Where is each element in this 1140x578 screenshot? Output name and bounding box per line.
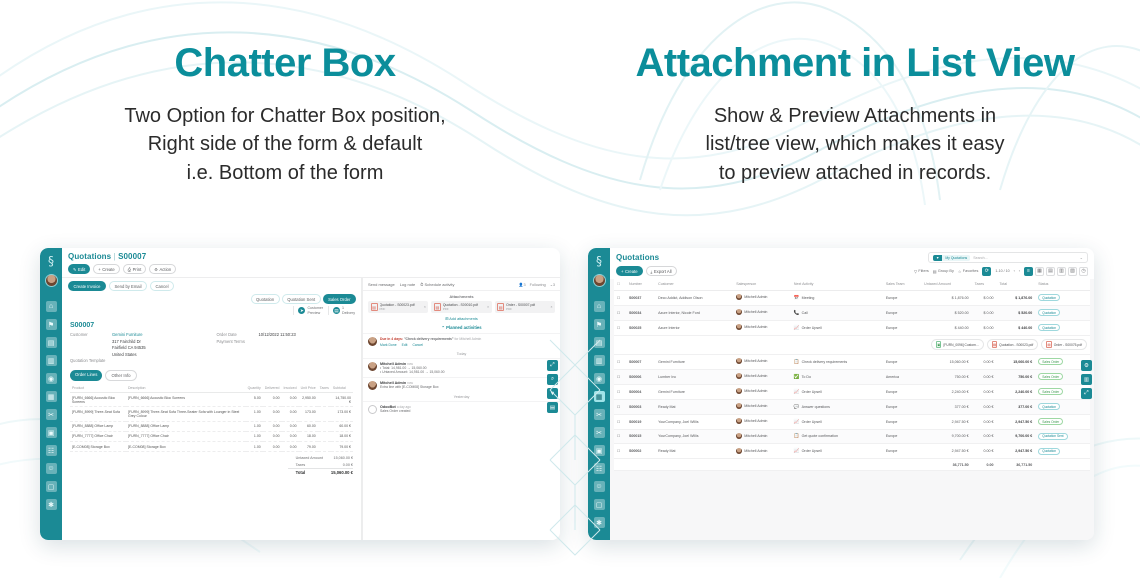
chatter-panel: Send message Log note ⏱ Schedule activit…	[362, 278, 560, 540]
sidebar-avatar[interactable]	[593, 274, 606, 287]
cell-activity: 📈Order Upsell	[791, 414, 883, 429]
row-checkbox[interactable]: ☐	[614, 305, 626, 320]
right-headline: Attachment in List View	[570, 40, 1140, 86]
plus-icon: +	[621, 269, 623, 274]
avatar	[736, 448, 742, 454]
table-row[interactable]: ☐ S00037 Deco Addict, Addison Olson Mitc…	[614, 290, 1090, 305]
address-line-3: United States	[112, 352, 137, 357]
cell-activity: 📈Order Upsell	[791, 320, 883, 335]
status-badge: Quotation Sent	[1038, 433, 1067, 440]
status-badge: Sales Order	[1038, 388, 1063, 395]
total-taxes-value: 0.00 €	[323, 461, 353, 468]
cell-unit-price: 173.00	[299, 407, 318, 421]
col-salesperson[interactable]: Salesperson	[733, 279, 791, 290]
col-taxes[interactable]: Taxes	[318, 384, 331, 393]
cell-taxes: $ 0.00	[972, 290, 997, 305]
attachment-chip[interactable]: ▤ Order - S00075.pdf	[1041, 339, 1087, 350]
table-row[interactable]: [FURN_8888] Office Lamp [FURN_8888] Offi…	[70, 421, 353, 431]
order-totals: Untaxed Amount 15,060.00 € Taxes 0.00 € …	[62, 455, 361, 480]
favorites-button[interactable]: ☆Favorites	[958, 269, 979, 274]
col-next-activity[interactable]: Next Activity	[791, 279, 883, 290]
export-all-button-label: Export All	[654, 269, 672, 274]
attachment-chip-list: ▤ Quotation - S00023.pdf PDF × ▤ Quotati…	[363, 301, 560, 313]
sidebar-avatar[interactable]	[45, 274, 58, 287]
list-view-mockup: § ⌂ ⚑ ▤ ▥ ◉ ▦ ✂ ✂ ▣ ☷ ☺ ▢ ✱ Quotations	[588, 248, 1094, 540]
cell-invoiced: 0.00	[282, 431, 299, 441]
edit-button[interactable]: ✎Edit	[68, 264, 90, 274]
table-row[interactable]: ☐ S00002 Ready Mat Mitchell Admin 📈Order…	[614, 444, 1090, 459]
cell-taxes	[318, 407, 331, 421]
cell-taxes	[318, 441, 331, 451]
cancel-activity-link[interactable]: Cancel	[412, 343, 423, 347]
export-all-button[interactable]: ⤓Export All	[646, 266, 677, 276]
cell-total: 2,947.50 €	[996, 444, 1035, 459]
cell-salesperson: Mitchell Admin	[733, 414, 791, 429]
cell-status: Quotation	[1035, 444, 1090, 459]
order-lines-wrapper: Product Description Quantity Delivered I…	[62, 381, 361, 452]
attachments-title: Attachments	[363, 291, 560, 301]
remove-attachment-icon[interactable]: ×	[551, 305, 553, 309]
day-separator-yesterday: Yesterday	[363, 393, 560, 401]
address-line-1: 317 Fairchild Dr	[112, 339, 141, 344]
table-row[interactable]: ☐ S00007 Gemini Furniture Mitchell Admin…	[614, 354, 1090, 369]
cell-customer: Ready Mat	[655, 399, 733, 414]
cell-untaxed: 377.00 €	[921, 399, 972, 414]
status-badge: Sales Order	[1038, 358, 1063, 365]
cell-taxes: 0.00 €	[972, 354, 997, 369]
create-button[interactable]: +Create	[93, 264, 120, 274]
create-button[interactable]: +Create	[616, 266, 643, 276]
chart-icon: 📈	[794, 325, 800, 331]
cell-invoiced: 0.00	[282, 407, 299, 421]
home-icon[interactable]: ⌂	[594, 301, 605, 312]
row-checkbox[interactable]: ☐	[614, 399, 626, 414]
customer-preview-line2: Preview	[307, 311, 323, 315]
person-icon[interactable]: ☺	[46, 463, 57, 474]
attachment-chip[interactable]: ▤ Order - S00007.pdf PDF ×	[495, 301, 555, 313]
cell-status: Quotation	[1035, 399, 1090, 414]
table-row[interactable]: ☐ S00004 Gemini Furniture Mitchell Admin…	[614, 384, 1090, 399]
connector-decoration	[540, 330, 610, 560]
tools-icon[interactable]: ✂	[46, 409, 57, 420]
cell-subtotal: 79.00 €	[331, 441, 353, 451]
row-checkbox[interactable]: ☐	[614, 354, 626, 369]
sidebar-icon-list[interactable]: ⌂ ⚑ ▤ ▥ ◉ ▦ ✂ ▣ ☷ ☺ ▢ ✱	[46, 301, 57, 510]
cell-status: Quotation	[1035, 320, 1090, 335]
left-subtext-line-2: Right side of the form & default	[0, 130, 570, 158]
field-customer: Customer Gemini Furniture	[70, 332, 207, 337]
quotations-table: ☐ Number Customer Salesperson Next Activ…	[614, 279, 1090, 471]
action-button-label: Action	[160, 267, 172, 272]
footer-grand-total: 36,771.50	[996, 459, 1035, 471]
cell-description: [FURN_7777] Office Chair	[126, 431, 246, 441]
tag-icon[interactable]: ⚑	[46, 319, 57, 330]
doc-icon[interactable]: ▣	[46, 427, 57, 438]
cell-number: S00034	[626, 305, 655, 320]
col-delivered[interactable]: Delivered	[263, 384, 282, 393]
cell-untaxed: 750.00 €	[921, 369, 972, 384]
pdf-icon: ▤	[992, 341, 998, 348]
cell-number: S00007	[626, 354, 655, 369]
cell-team: Europe	[883, 305, 921, 320]
table-row[interactable]: [FURN_6666] Acoustic Bloc Screens [FURN_…	[70, 393, 353, 407]
form-fields: Customer Gemini Furniture 317 Fairchild …	[70, 332, 353, 365]
pivot-icon[interactable]: ▥	[1057, 267, 1066, 276]
cell-description: [E-COM08] Storage Box	[126, 441, 246, 451]
cell-quantity: 5.00	[246, 393, 263, 407]
pdf-icon: ▤	[1046, 341, 1052, 348]
col-subtotal[interactable]: Subtotal	[331, 384, 353, 393]
attachment-chip[interactable]: ▣ [FURN_0096] Custom...	[931, 339, 984, 350]
clipboard-icon: 📋	[794, 359, 800, 365]
left-subtext-line-3: i.e. Bottom of the form	[0, 159, 570, 187]
cell-team: Europe	[883, 354, 921, 369]
cell-delivered: 0.00	[263, 431, 282, 441]
cell-description: [FURN_8999] Three-Seat Sofa Three-Seater…	[126, 407, 246, 421]
message-line: Extra line with [E-COM08] Storage Box	[380, 385, 439, 389]
table-row[interactable]: ☐ S00034 Azure Interior, Nicole Ford Mit…	[614, 305, 1090, 320]
attachment-preview-row: ▣ [FURN_0096] Custom... ▤ Quotation - S0…	[614, 335, 1090, 354]
cell-total: 15,060.00 €	[996, 354, 1035, 369]
total-grand: Total 15,060.00 €	[288, 468, 353, 476]
book-icon[interactable]: ▥	[46, 355, 57, 366]
message-item: Mitchell Admin now Extra line with [E-CO…	[363, 377, 560, 393]
list-toolbar: +Create ⤓Export All ▽Filters ▤Group By ☆…	[616, 266, 1088, 279]
cell-salesperson: Mitchell Admin	[733, 290, 791, 305]
cell-taxes: 0.00 €	[972, 444, 997, 459]
form-view-body: Quotations | S00007 ✎Edit +Create ⎙Print…	[62, 248, 560, 540]
cell-total: $ 440.00	[996, 320, 1035, 335]
cell-salesperson: Mitchell Admin	[733, 305, 791, 320]
cell-number: S00004	[626, 384, 655, 399]
table-row[interactable]: ☐ S00015 YourCompany, Joel Willis Mitche…	[614, 429, 1090, 444]
form-control-panel: Quotations | S00007 ✎Edit +Create ⎙Print…	[62, 248, 560, 278]
field-address-line2: Fairfield CA 94535	[70, 345, 207, 350]
list-header-row: Quotations ▼ My Quotations Search... ⌄	[616, 252, 1088, 263]
table-row[interactable]: [E-COM08] Storage Box [E-COM08] Storage …	[70, 441, 353, 451]
question-icon: 💬	[794, 404, 800, 410]
cell-delivered: 0.00	[263, 441, 282, 451]
field-address-line3: United States	[70, 352, 207, 357]
cell-number: S00006	[626, 369, 655, 384]
delivery-button[interactable]: ▤ 1 Delivery	[328, 306, 355, 315]
cell-status: Sales Order	[1035, 414, 1090, 429]
cell-total: 2,947.50 €	[996, 414, 1035, 429]
cell-customer: Gemini Furniture	[655, 384, 733, 399]
breadcrumb-record: S00007	[118, 252, 146, 261]
table-row[interactable]: ☐ S00006 Lumber Inc Mitchell Admin ✅To D…	[614, 369, 1090, 384]
right-subtext: Show & Preview Attachments in list/tree …	[570, 102, 1140, 187]
cell-untaxed: $ 440.00	[921, 320, 972, 335]
cell-salesperson: Mitchell Admin	[733, 429, 791, 444]
image-icon: ▣	[936, 341, 942, 348]
box-icon[interactable]: ▢	[46, 481, 57, 492]
col-customer[interactable]: Customer	[655, 279, 733, 290]
cell-activity: 📞Call	[791, 305, 883, 320]
col-unit-price[interactable]: Unit Price	[299, 384, 318, 393]
pager-prev-icon[interactable]: ‹	[1014, 269, 1015, 273]
cell-invoiced: 0.00	[282, 441, 299, 451]
cell-customer: Lumber Inc	[655, 369, 733, 384]
activity-icon[interactable]: ◷	[1079, 267, 1088, 276]
row-checkbox[interactable]: ☐	[614, 384, 626, 399]
pager-label: 1-10 / 10	[995, 269, 1009, 273]
send-by-email-button[interactable]: Send by Email	[109, 281, 147, 291]
edit-activity-link[interactable]: Edit	[402, 343, 408, 347]
chart-icon: 📈	[794, 419, 800, 425]
breadcrumb[interactable]: Quotations	[616, 253, 659, 262]
col-taxes[interactable]: Taxes	[972, 279, 997, 290]
list-table-wrapper: ☐ Number Customer Salesperson Next Activ…	[610, 279, 1094, 540]
add-attachments-button[interactable]: ⊞ Add attachments	[363, 313, 560, 323]
gear-icon: ⚙	[154, 267, 158, 272]
log-note-button[interactable]: Log note	[400, 282, 416, 287]
cell-activity: 📈Order Upsell	[791, 384, 883, 399]
cell-team: Europe	[883, 384, 921, 399]
left-headline: Chatter Box	[0, 40, 570, 86]
create-invoice-button[interactable]: Create Invoice	[68, 281, 106, 291]
clipboard-icon: 📋	[794, 433, 800, 439]
cell-team: Europe	[883, 444, 921, 459]
col-description[interactable]: Description	[126, 384, 246, 393]
footer-untaxed-total: 36,771.50	[921, 459, 972, 471]
table-row[interactable]: ☐ S00003 Ready Mat Mitchell Admin 💬Answe…	[614, 399, 1090, 414]
cell-salesperson: Mitchell Admin	[733, 384, 791, 399]
cell-number: S00003	[626, 399, 655, 414]
avatar	[736, 388, 742, 394]
hero-left: Chatter Box Two Option for Chatter Box p…	[0, 40, 570, 187]
cell-taxes	[318, 431, 331, 441]
cell-quantity: 1.00	[246, 421, 263, 431]
col-number[interactable]: Number	[626, 279, 655, 290]
mark-done-link[interactable]: Mark Done	[380, 343, 397, 347]
cell-delivered: 0.00	[263, 393, 282, 407]
send-message-button[interactable]: Send message	[368, 282, 395, 287]
cell-activity: 📋Get quote confirmation	[791, 429, 883, 444]
chatter-followers: 👤3 Following ⌄3	[519, 282, 555, 287]
breadcrumb-separator: |	[114, 252, 116, 261]
hero-right: Attachment in List View Show & Preview A…	[570, 40, 1140, 187]
order-lines-table: Product Description Quantity Delivered I…	[70, 384, 353, 452]
hero-section: Chatter Box Two Option for Chatter Box p…	[0, 0, 1140, 187]
table-row[interactable]: ☐ S00019 YourCompany, Joel Willis Mitche…	[614, 414, 1090, 429]
cell-activity: ✅To Do	[791, 369, 883, 384]
calendar-icon[interactable]: ▤	[46, 337, 57, 348]
remove-attachment-icon[interactable]: ×	[424, 305, 426, 309]
field-customer-value[interactable]: Gemini Furniture	[112, 332, 143, 337]
cell-quantity: 1.00	[246, 441, 263, 451]
status-quotation-sent[interactable]: Quotation Sent	[282, 294, 321, 304]
group-by-button[interactable]: ▤Group By	[933, 269, 954, 274]
cart-icon[interactable]: ▦	[46, 391, 57, 402]
activity-due: Due in 4 days:	[380, 337, 403, 341]
customer-preview-line1: Customer	[307, 306, 323, 310]
cell-untaxed: $ 520.00	[921, 305, 972, 320]
form-fields-right: Order Date 10/12/2022 11:50:23 Payment T…	[217, 332, 354, 365]
cell-subtotal: 18.00 €	[331, 431, 353, 441]
cell-activity: 📈Order Upsell	[791, 444, 883, 459]
tag-icon[interactable]: ⚑	[594, 319, 605, 330]
select-all-checkbox[interactable]: ☐	[614, 279, 626, 290]
action-button[interactable]: ⚙Action	[149, 264, 176, 274]
right-float-toolbar[interactable]: ⚙ ▥ ⤢	[1081, 360, 1092, 399]
cell-quantity: 1.00	[246, 431, 263, 441]
chatter-actions: Send message Log note ⏱ Schedule activit…	[363, 278, 560, 291]
printer-icon: ⎙	[128, 267, 131, 272]
people-icon[interactable]: ☷	[46, 445, 57, 456]
status-sales-order[interactable]: Sales Order	[323, 294, 356, 304]
filters-button[interactable]: ▽Filters	[914, 269, 929, 274]
print-button-label: Print	[133, 267, 142, 272]
list-icon[interactable]: ≡	[1024, 267, 1033, 276]
cell-number: S00025	[626, 320, 655, 335]
table-row[interactable]: ☐ S00025 Azure Interior Mitchell Admin 📈…	[614, 320, 1090, 335]
remove-attachment-icon[interactable]: ×	[487, 305, 489, 309]
form-sheet-pane: Create Invoice Send by Email Cancel Quot…	[62, 278, 362, 540]
status-badge: Quotation	[1038, 294, 1060, 301]
cell-taxes: 0.00 €	[972, 414, 997, 429]
avatar	[736, 373, 742, 379]
cell-activity: 📅Meeting	[791, 290, 883, 305]
cell-product: [FURN_6666] Acoustic Bloc Screens	[70, 393, 126, 407]
workflow-buttons: Create Invoice Send by Email Cancel	[62, 278, 361, 291]
cell-taxes: $ 0.00	[972, 305, 997, 320]
row-checkbox[interactable]: ☐	[614, 414, 626, 429]
table-footer-row: 36,771.50 0.00 36,771.50	[614, 459, 1090, 471]
columns-icon[interactable]: ▥	[1081, 374, 1092, 385]
cell-unit-price: 18.00	[299, 431, 318, 441]
planned-activities-title: ⌃ Planned activities	[363, 323, 560, 333]
table-row[interactable]: [FURN_8999] Three-Seat Sofa [FURN_8999] …	[70, 407, 353, 421]
col-total[interactable]: Total	[996, 279, 1035, 290]
cell-product: [FURN_7777] Office Chair	[70, 431, 126, 441]
attachment-chip[interactable]: ▤ Quotation - S00010.pdf PDF ×	[431, 301, 491, 313]
cell-team: Europe	[883, 320, 921, 335]
total-grand-value: 15,060.00 €	[323, 468, 353, 476]
cell-salesperson: Mitchell Admin	[733, 444, 791, 459]
cell-taxes	[318, 393, 331, 407]
row-checkbox[interactable]: ☐	[614, 429, 626, 444]
kanban-icon[interactable]: ▦	[1035, 267, 1044, 276]
breadcrumb: Quotations | S00007	[68, 252, 554, 261]
row-checkbox[interactable]: ☐	[614, 320, 626, 335]
globe-icon[interactable]: ◉	[46, 373, 57, 384]
list-view-controls: ▽Filters ▤Group By ☆Favorites ⟳ 1-10 / 1…	[914, 267, 1088, 276]
attachment-ext: PDF	[506, 307, 535, 311]
phone-icon: 📞	[794, 310, 800, 316]
settings-icon[interactable]: ✱	[46, 499, 57, 510]
cell-number: S00002	[626, 444, 655, 459]
settings-icon[interactable]: ⚙	[1081, 360, 1092, 371]
address-line-2: Fairfield CA 94535	[112, 345, 146, 350]
expand-icon[interactable]: ⤢	[1081, 388, 1092, 399]
field-order-date-value[interactable]: 10/12/2022 11:50:23	[259, 332, 296, 337]
home-icon[interactable]: ⌂	[46, 301, 57, 312]
truck-icon: ▤	[333, 307, 340, 314]
status-badge: Sales Order	[1038, 373, 1063, 380]
col-product[interactable]: Product	[70, 384, 126, 393]
search-input[interactable]: Search...	[973, 256, 987, 260]
search-dropdown-icon[interactable]: ⌄	[1080, 255, 1083, 260]
col-invoiced[interactable]: Invoiced	[282, 384, 299, 393]
cancel-button[interactable]: Cancel	[150, 281, 174, 291]
cell-invoiced: 0.00	[282, 421, 299, 431]
calendar-icon[interactable]: ▤	[1046, 267, 1055, 276]
refresh-icon[interactable]: ⟳	[982, 267, 991, 276]
pager-next-icon[interactable]: ›	[1019, 269, 1020, 273]
cell-total: $ 1,876.00	[996, 290, 1035, 305]
status-badge: Quotation	[1038, 324, 1060, 331]
cell-untaxed: 2,947.50 €	[921, 444, 972, 459]
todo-icon: ✅	[794, 374, 800, 380]
search-bar[interactable]: ▼ My Quotations Search... ⌄	[928, 252, 1088, 263]
cell-team: America	[883, 369, 921, 384]
message-item: Mitchell Admin now • Total: 14,981.00 → …	[363, 358, 560, 377]
search-facet[interactable]: ▼ My Quotations	[933, 255, 970, 261]
cell-total: 750.00 €	[996, 369, 1035, 384]
cell-customer: Azure Interior, Nicole Ford	[655, 305, 733, 320]
avatar	[368, 337, 377, 346]
col-untaxed-amount[interactable]: Untaxed Amount	[921, 279, 972, 290]
customer-preview-button[interactable]: ➤ Customer Preview	[293, 306, 323, 315]
table-row[interactable]: [FURN_7777] Office Chair [FURN_7777] Off…	[70, 431, 353, 441]
row-checkbox[interactable]: ☐	[614, 290, 626, 305]
col-status[interactable]: Status	[1035, 279, 1090, 290]
chart-icon: 📈	[794, 389, 800, 395]
col-sales-team[interactable]: Sales Team	[883, 279, 921, 290]
cell-status: Quotation	[1035, 290, 1090, 305]
attachment-name: [FURN_0096] Custom...	[943, 343, 978, 347]
cell-customer: Gemini Furniture	[655, 354, 733, 369]
meeting-icon: 📅	[794, 295, 800, 301]
col-quantity[interactable]: Quantity	[246, 384, 263, 393]
status-quotation[interactable]: Quotation	[251, 294, 280, 304]
graph-icon[interactable]: ▨	[1068, 267, 1077, 276]
right-subtext-line-2: list/tree view, which makes it easy	[570, 130, 1140, 158]
print-button[interactable]: ⎙Print	[123, 264, 146, 274]
field-payment-terms: Payment Terms	[217, 339, 354, 344]
tab-other-info[interactable]: Other Info	[105, 370, 136, 381]
field-quotation-template-label: Quotation Template	[70, 358, 105, 363]
avatar	[736, 418, 742, 424]
form-fields-left: Customer Gemini Furniture 317 Fairchild …	[70, 332, 207, 365]
left-subtext-line-1: Two Option for Chatter Box position,	[0, 102, 570, 130]
cell-total: 9,700.00 €	[996, 429, 1035, 444]
attachment-chip[interactable]: ▤ Quotation - S00023.pdf	[987, 339, 1039, 350]
schedule-activity-button[interactable]: ⏱ Schedule activity	[420, 282, 454, 287]
left-app-sidebar[interactable]: § ⌂ ⚑ ▤ ▥ ◉ ▦ ✂ ▣ ☷ ☺ ▢ ✱	[40, 248, 62, 540]
followers-expand-icon[interactable]: ⌄3	[550, 282, 555, 287]
order-lines-header: Product Description Quantity Delivered I…	[70, 384, 353, 393]
cell-quantity: 1.00	[246, 407, 263, 421]
facet-label: My Quotations	[942, 255, 970, 261]
row-checkbox[interactable]: ☐	[614, 444, 626, 459]
attachment-chip[interactable]: ▤ Quotation - S00023.pdf PDF ×	[368, 301, 428, 313]
row-checkbox[interactable]: ☐	[614, 369, 626, 384]
tab-order-lines[interactable]: Order Lines	[70, 370, 102, 381]
form-notebook-tabs: Order Lines Other Info	[62, 370, 361, 381]
create-button-label: Create	[625, 269, 638, 274]
field-order-date: Order Date 10/12/2022 11:50:23	[217, 332, 354, 337]
breadcrumb-root[interactable]: Quotations	[68, 252, 111, 261]
cell-status: Quotation Sent	[1035, 429, 1090, 444]
right-subtext-line-3: to preview attached in records.	[570, 159, 1140, 187]
following-toggle[interactable]: Following	[530, 283, 546, 287]
attachment-ext: PDF	[443, 307, 478, 311]
smart-buttons: ➤ Customer Preview ▤ 1 Delivery	[62, 306, 361, 318]
pencil-icon: ✎	[73, 267, 77, 272]
followers-count[interactable]: 👤3	[519, 282, 526, 287]
